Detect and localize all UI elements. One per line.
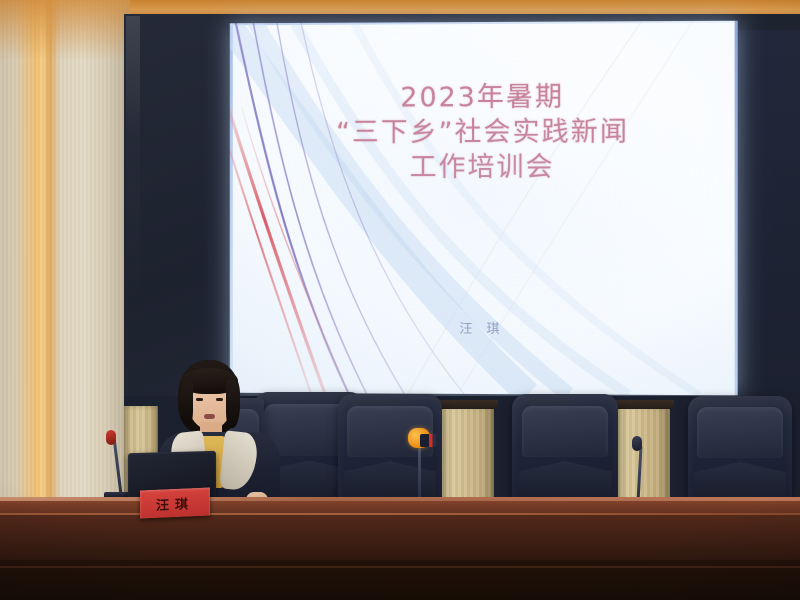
chair-3 — [512, 394, 618, 510]
table-top-highlight — [0, 497, 800, 501]
slide-title: 2023年暑期 “三下乡”社会实践新闻 工作培训会 — [230, 79, 738, 185]
speaker-eye-right — [216, 398, 223, 401]
right-dark-panel — [735, 30, 800, 402]
chair-4 — [688, 396, 792, 510]
slide-presenter-name: 汪 琪 — [230, 317, 738, 338]
speaker-eye-left — [196, 398, 203, 401]
speaker-hair-right — [226, 380, 240, 428]
panel-sheen-highlight — [126, 16, 140, 316]
desk-nameplate-text: 汪琪 — [156, 493, 194, 514]
speaker-hair-left — [180, 380, 193, 426]
microphone-3-head — [632, 436, 642, 451]
desk-nameplate: 汪琪 — [140, 487, 210, 518]
microphone-1-head — [106, 430, 116, 445]
table-front-seam — [0, 566, 800, 568]
microphone-2-stem — [418, 448, 421, 502]
speaker-mouth — [204, 414, 215, 419]
photo-scene: 2023年暑期 “三下乡”社会实践新闻 工作培训会 汪 琪 — [0, 0, 800, 600]
slide-title-line-2: “三下乡”社会实践新闻 — [230, 114, 738, 150]
chair-2 — [338, 394, 442, 510]
slide-title-line-1: 2023年暑期 — [230, 79, 738, 116]
slide-title-line-3: 工作培训会 — [230, 150, 738, 186]
projection-screen: 2023年暑期 “三下乡”社会实践新闻 工作培训会 汪 琪 — [230, 21, 738, 396]
microphone-2-head — [420, 434, 436, 447]
slide-ribbon-decoration — [230, 21, 738, 396]
conference-table-face — [0, 515, 800, 563]
left-wall-light-glow — [0, 0, 130, 60]
